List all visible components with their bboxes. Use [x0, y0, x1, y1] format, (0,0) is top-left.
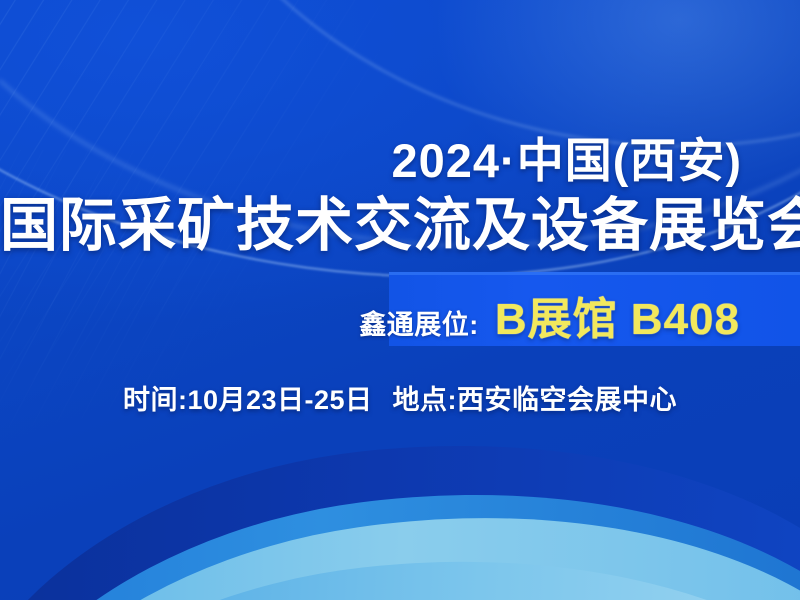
poster-content: 2024·中国(西安) 国际采矿技术交流及设备展览会 鑫通展位: B展馆 B40… — [0, 0, 800, 600]
event-date: 时间:10月23日-25日 — [123, 385, 373, 415]
booth-number: B展馆 B408 — [495, 283, 740, 347]
event-meta-row: 时间:10月23日-25日地点:西安临空会展中心 — [0, 378, 800, 417]
title-line-event-name: 国际采矿技术交流及设备展览会 — [0, 178, 800, 262]
exhibition-poster: 2024·中国(西安) 国际采矿技术交流及设备展览会 鑫通展位: B展馆 B40… — [0, 0, 800, 600]
event-venue: 地点:西安临空会展中心 — [393, 385, 678, 415]
booth-label: 鑫通展位: — [359, 303, 479, 342]
booth-info-row: 鑫通展位: B展馆 B408 — [359, 283, 740, 347]
